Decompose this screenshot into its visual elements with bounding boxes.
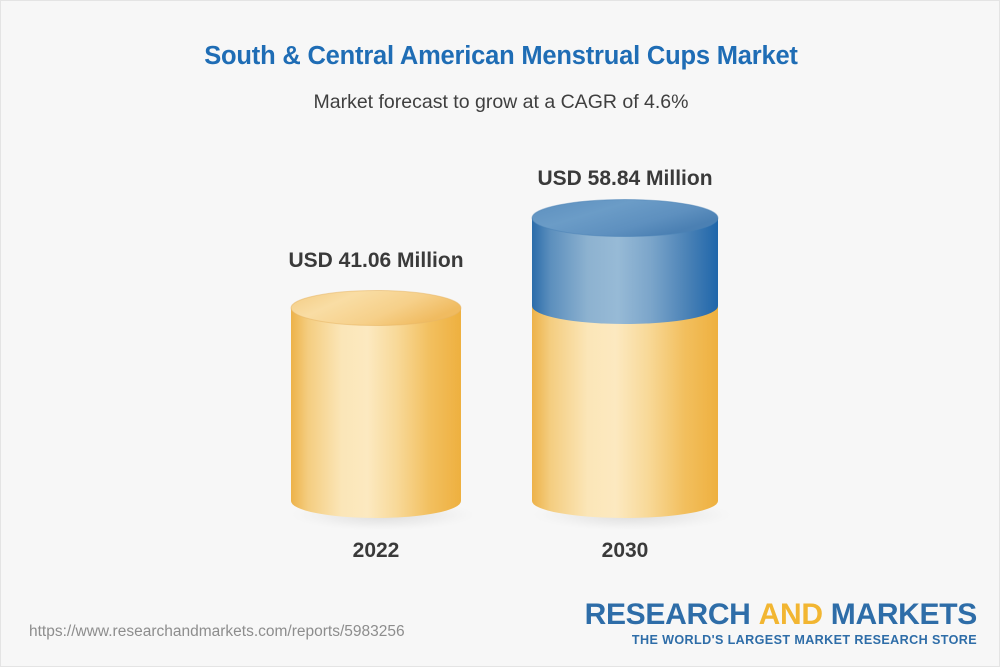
logo-tagline: THE WORLD'S LARGEST MARKET RESEARCH STOR…	[585, 633, 977, 647]
cylinder-2030	[532, 111, 718, 541]
bar-group-2030[interactable]: USD 58.84 Million	[532, 111, 718, 551]
logo-word-research: RESEARCH	[585, 598, 751, 631]
logo-word-and: AND	[759, 598, 823, 631]
cylinder-2022	[291, 201, 461, 541]
bar-category-label-2030: 2030	[602, 539, 649, 563]
logo-wordmark: RESEARCH AND MARKETS	[585, 599, 977, 631]
bar-category-label-2022: 2022	[353, 539, 400, 563]
plot-area: USD 41.06 Million	[1, 1, 1000, 601]
report-url[interactable]: https://www.researchandmarkets.com/repor…	[29, 623, 405, 641]
bar-group-2022[interactable]: USD 41.06 Million	[291, 201, 461, 551]
chart-canvas: South & Central American Menstrual Cups …	[0, 0, 1000, 667]
research-and-markets-logo[interactable]: RESEARCH AND MARKETS THE WORLD'S LARGEST…	[585, 599, 977, 647]
logo-word-markets: MARKETS	[831, 598, 977, 631]
